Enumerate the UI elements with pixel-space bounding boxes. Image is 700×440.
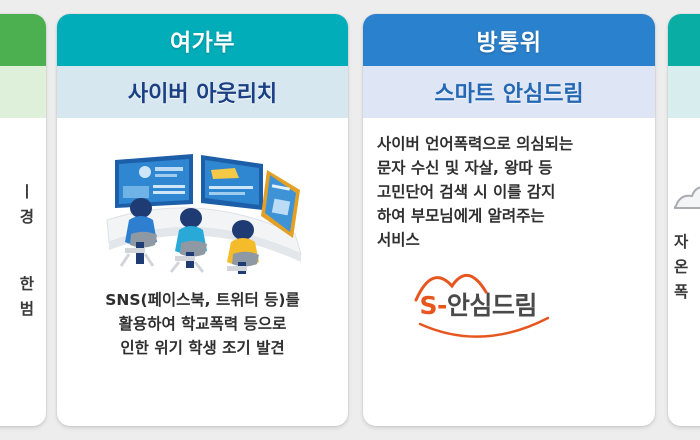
card-2-text: SNS(페이스북, 트위터 등)를 활용하여 학교폭력 등으로 인한 위기 학생… (105, 288, 300, 360)
card-1-header (0, 14, 46, 66)
card-1[interactable]: ㅣ 경 한 범 (0, 14, 46, 426)
card-1-subheader (0, 66, 46, 118)
card-4[interactable]: 자 온 폭 (668, 14, 700, 426)
card-3-header: 방통위 (363, 14, 655, 66)
logo-prefix: S- (420, 291, 447, 320)
card-2-header: 여가부 (57, 14, 348, 66)
control-room-illustration (95, 142, 310, 274)
card-4-subheader (668, 66, 700, 118)
logo-name: 안심드림 (447, 291, 537, 320)
cloud-illustration (674, 144, 700, 230)
card-4-body: 자 온 폭 (668, 118, 700, 426)
logo-text: S-안심드림 (420, 286, 615, 322)
card-3-subheader: 스마트 안심드림 (363, 66, 655, 118)
card-2-subheader: 사이버 아웃리치 (57, 66, 348, 118)
card-3-text: 사이버 언어폭력으로 의심되는 문자 수신 및 자살, 왕따 등 고민단어 검색… (375, 132, 643, 252)
card-2[interactable]: 여가부 사이버 아웃리치 (57, 14, 348, 426)
card-2-body: SNS(페이스북, 트위터 등)를 활용하여 학교폭력 등으로 인한 위기 학생… (57, 118, 348, 426)
card-1-text-top: ㅣ 경 (0, 180, 34, 230)
card-4-header (668, 14, 700, 66)
card-4-text: 자 온 폭 (674, 230, 700, 305)
card-3-body: 사이버 언어폭력으로 의심되는 문자 수신 및 자살, 왕따 등 고민단어 검색… (363, 118, 655, 426)
card-3[interactable]: 방통위 스마트 안심드림 사이버 언어폭력으로 의심되는 문자 수신 및 자살,… (363, 14, 655, 426)
card-1-body: ㅣ 경 한 범 (0, 118, 46, 426)
infographic-board: ㅣ 경 한 범 여가부 사이버 아웃리치 (0, 0, 700, 440)
ansimdream-logo: S-안심드림 (412, 266, 607, 338)
card-1-text-bottom: 한 범 (0, 272, 34, 322)
